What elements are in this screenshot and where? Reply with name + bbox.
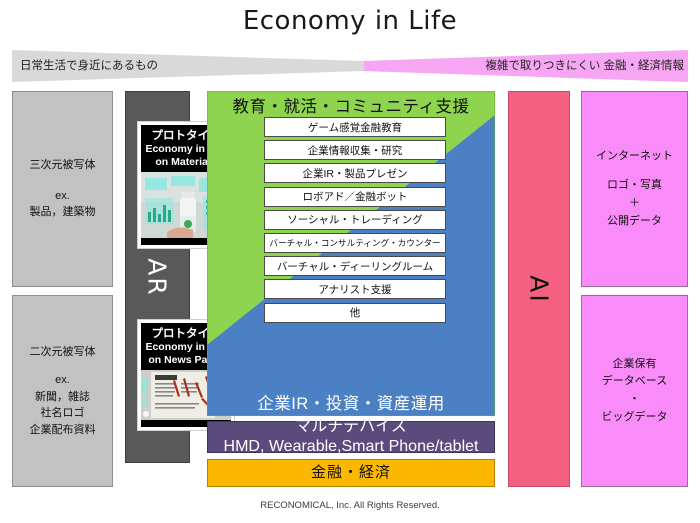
list-item[interactable]: ソーシャル・トレーディング <box>264 210 446 230</box>
right-box-database: 企業保有 データベース ・ ビッグデータ <box>581 295 688 487</box>
list-item[interactable]: ロボアド／金融ボット <box>264 187 446 207</box>
list-item[interactable]: 企業情報収集・研究 <box>264 140 446 160</box>
left-box-2d-example-2: 社名ロゴ <box>30 405 96 422</box>
left-box-3d-examples: 製品，建築物 <box>30 204 96 221</box>
right-box-database-sep: ・ <box>602 391 668 409</box>
ai-column <box>508 91 570 487</box>
list-item[interactable]: アナリスト支援 <box>264 279 446 299</box>
list-item[interactable]: ゲーム感覚金融教育 <box>264 117 446 137</box>
multi-device-bar: マルチデバイス HMD, Wearable,Smart Phone/tablet <box>207 421 495 453</box>
spectrum-banner: 日常生活で身近にあるもの 複雑で取りつきにくい 金融・経済情報 <box>12 50 688 82</box>
center-header-label: 教育・就活・コミュニティ支援 <box>207 93 495 117</box>
left-box-2d-title: 二次元被写体 <box>30 344 96 361</box>
right-box-database-line4: ビッグデータ <box>602 409 668 427</box>
center-footer-label: 企業IR・投資・資産運用 <box>207 390 495 414</box>
page-title: Economy in Life <box>0 6 700 36</box>
center-item-list: ゲーム感覚金融教育 企業情報収集・研究 企業IR・製品プレゼン ロボアド／金融ボ… <box>264 117 446 326</box>
left-box-2d-subject: 二次元被写体 ex. 新聞，雑誌 社名ロゴ 企業配布資料 <box>12 295 113 487</box>
right-box-internet-line4: 公開データ <box>596 213 673 231</box>
right-box-internet: インターネット ロゴ・写真 ＋ 公開データ <box>581 91 688 287</box>
list-item[interactable]: 企業IR・製品プレゼン <box>264 163 446 183</box>
slide-canvas: Economy in Life 日常生活で身近にあるもの 複雑で取りつきにくい … <box>0 0 700 523</box>
copyright-footer: RECONOMICAL, Inc. All Rights Reserved. <box>0 500 700 511</box>
list-item[interactable]: バーチャル・コンサルティング・カウンター <box>264 233 446 253</box>
list-item[interactable]: バーチャル・ディーリングルーム <box>264 256 446 276</box>
left-box-3d-title: 三次元被写体 <box>30 157 96 174</box>
left-box-2d-example-3: 企業配布資料 <box>30 422 96 439</box>
right-box-internet-title: インターネット <box>596 148 673 166</box>
center-stack: 教育・就活・コミュニティ支援 ゲーム感覚金融教育 企業情報収集・研究 企業IR・… <box>207 91 495 416</box>
left-box-2d-ex: ex. <box>30 372 96 389</box>
finance-economy-label: 金融・経済 <box>311 464 391 483</box>
left-box-3d-subject: 三次元被写体 ex. 製品，建築物 <box>12 91 113 287</box>
right-box-internet-plus: ＋ <box>596 195 673 213</box>
multi-device-list: HMD, Wearable,Smart Phone/tablet <box>224 437 479 457</box>
multi-device-title: マルチデバイス <box>295 417 407 437</box>
list-item[interactable]: 他 <box>264 303 446 323</box>
right-box-database-line2: データベース <box>602 373 668 391</box>
banner-right-label: 複雑で取りつきにくい 金融・経済情報 <box>485 57 684 73</box>
left-box-3d-ex: ex. <box>30 188 96 205</box>
banner-left-label: 日常生活で身近にあるもの <box>20 57 158 73</box>
left-box-2d-example-1: 新聞，雑誌 <box>30 389 96 406</box>
right-box-internet-line2: ロゴ・写真 <box>596 177 673 195</box>
finance-economy-bar: 金融・経済 <box>207 459 495 487</box>
right-box-database-line1: 企業保有 <box>602 356 668 374</box>
